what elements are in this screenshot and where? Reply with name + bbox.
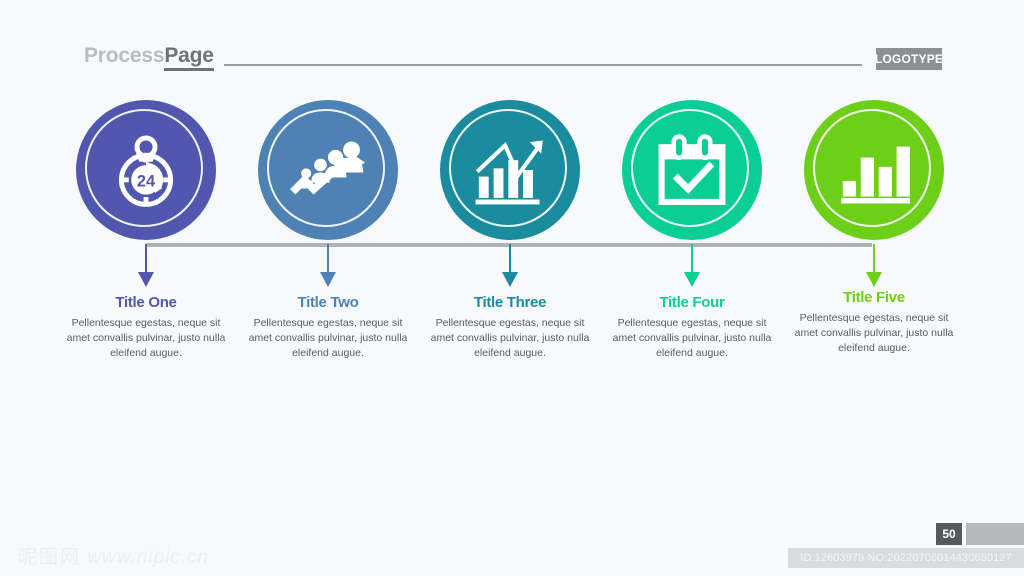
step-1-circle-wrap[interactable]: 24 (76, 100, 216, 240)
logotype-badge: LOGOTYPE (876, 48, 942, 70)
step-1-arrow (136, 244, 156, 288)
bar-chart-icon (804, 100, 944, 240)
title-divider-rule (224, 64, 862, 66)
step-3-title: Title Three (410, 294, 610, 311)
footer-accent-bar (966, 523, 1024, 545)
process-step-4[interactable]: Title Four Pellentesque egestas, neque s… (592, 100, 792, 361)
stopwatch-24-label: 24 (137, 172, 156, 190)
step-3-arrow (500, 244, 520, 288)
process-step-2[interactable]: Title Two Pellentesque egestas, neque si… (228, 100, 428, 361)
step-1-body: Pellentesque egestas, neque sit amet con… (66, 316, 226, 361)
step-2-circle-wrap[interactable] (258, 100, 398, 240)
footer-id-text: ID:12603979 NO:20220706014430650127 (788, 548, 1024, 568)
step-5-body: Pellentesque egestas, neque sit amet con… (794, 311, 954, 356)
step-5-arrow (864, 244, 884, 288)
page-title-dark: Page (164, 44, 213, 71)
step-4-title: Title Four (592, 294, 792, 311)
page-header: ProcessPage LOGOTYPE (0, 0, 1024, 100)
step-1-title: Title One (46, 294, 246, 311)
watermark-cjk: 昵图网 (18, 547, 81, 568)
process-step-3[interactable]: Title Three Pellentesque egestas, neque … (410, 100, 610, 361)
step-4-body: Pellentesque egestas, neque sit amet con… (612, 316, 772, 361)
stopwatch-24h-icon: 24 (76, 100, 216, 240)
step-2-body: Pellentesque egestas, neque sit amet con… (248, 316, 408, 361)
page-title: ProcessPage (84, 44, 214, 68)
step-5-circle-wrap[interactable] (804, 100, 944, 240)
people-growth-arrow-icon (258, 100, 398, 240)
step-3-body: Pellentesque egestas, neque sit amet con… (430, 316, 590, 361)
step-4-circle-wrap[interactable] (622, 100, 762, 240)
step-2-arrow (318, 244, 338, 288)
calendar-check-icon (622, 100, 762, 240)
process-diagram: 24 Title One Pellentesque egestas, neque… (0, 100, 1024, 480)
process-step-5[interactable]: Title Five Pellentesque egestas, neque s… (774, 100, 974, 356)
page-title-light: Process (84, 44, 164, 67)
page-number-badge: 50 (936, 523, 962, 545)
site-watermark: 昵图网 www.nipic.cn (18, 542, 209, 569)
step-4-arrow (682, 244, 702, 288)
step-2-title: Title Two (228, 294, 428, 311)
step-5-title: Title Five (774, 289, 974, 306)
watermark-url: www.nipic.cn (87, 547, 209, 568)
step-3-circle-wrap[interactable] (440, 100, 580, 240)
process-step-1[interactable]: 24 Title One Pellentesque egestas, neque… (46, 100, 246, 361)
bar-chart-trend-arrow-icon (440, 100, 580, 240)
